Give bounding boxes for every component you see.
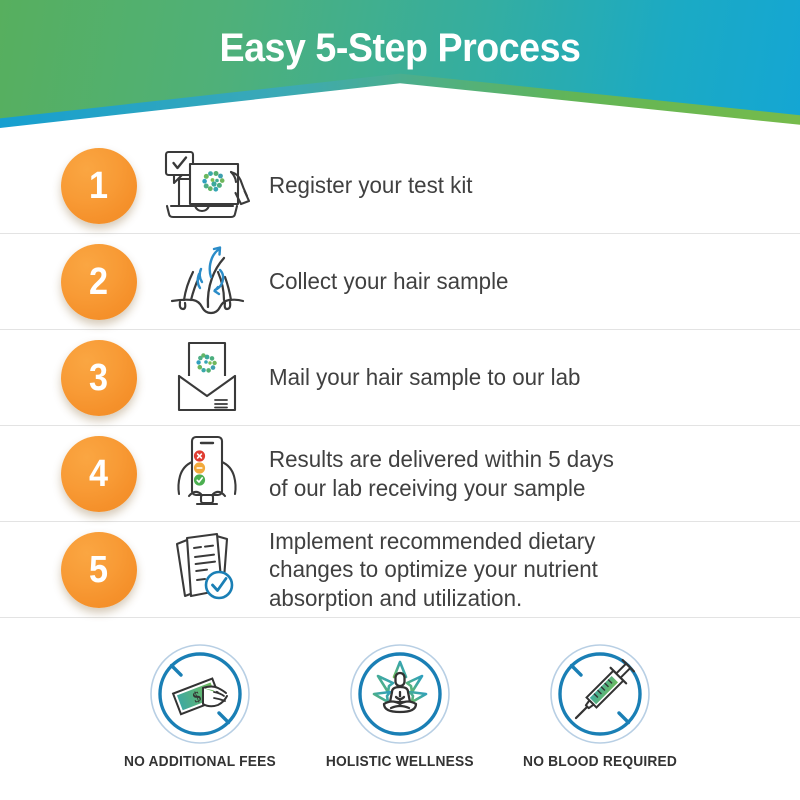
badge-item: HOLISTIC WELLNESS	[300, 640, 500, 770]
no-syringe-icon	[546, 640, 654, 748]
step-description: Register your test kit	[269, 171, 738, 200]
badge-label: NO ADDITIONAL FEES	[124, 754, 276, 770]
step-number-badge: 1	[61, 148, 137, 224]
step-row: 3	[0, 330, 800, 426]
meditation-lotus-icon	[346, 640, 454, 748]
envelope-mail-icon	[159, 337, 255, 419]
step-number-badge: 3	[61, 340, 137, 416]
step-number-label: 2	[89, 263, 108, 301]
steps-list: 1	[0, 138, 800, 618]
step-row: 4	[0, 426, 800, 522]
documents-check-icon	[159, 529, 255, 611]
step-description: Results are delivered within 5 days of o…	[269, 445, 738, 502]
step-number-badge: 4	[61, 436, 137, 512]
badge-label: NO BLOOD REQUIRED	[523, 754, 677, 770]
step-description: Implement recommended dietary changes to…	[269, 527, 738, 613]
header-banner: Easy 5-Step Process	[0, 0, 800, 160]
step-number-label: 1	[89, 167, 108, 205]
step-number-badge: 2	[61, 244, 137, 320]
step-row: 5	[0, 522, 800, 618]
badge-item: NO BLOOD REQUIRED	[500, 640, 700, 770]
step-row: 2	[0, 234, 800, 330]
badge-label: HOLISTIC WELLNESS	[326, 754, 474, 770]
step-row: 1	[0, 138, 800, 234]
trust-badges: $ NO ADDITIONAL FEES	[0, 640, 800, 770]
phone-results-icon	[159, 433, 255, 515]
step-number-label: 5	[89, 551, 108, 589]
step-description: Mail your hair sample to our lab	[269, 363, 738, 392]
page-title: Easy 5-Step Process	[24, 26, 776, 71]
hair-follicle-icon	[159, 241, 255, 323]
laptop-register-icon	[159, 145, 255, 227]
money-hand-icon: $	[146, 640, 254, 748]
step-description: Collect your hair sample	[269, 267, 738, 296]
step-number-label: 4	[89, 455, 108, 493]
infographic-page: Easy 5-Step Process 1	[0, 0, 800, 800]
step-number-badge: 5	[61, 532, 137, 608]
step-number-label: 3	[89, 359, 108, 397]
badge-item: $ NO ADDITIONAL FEES	[100, 640, 300, 770]
